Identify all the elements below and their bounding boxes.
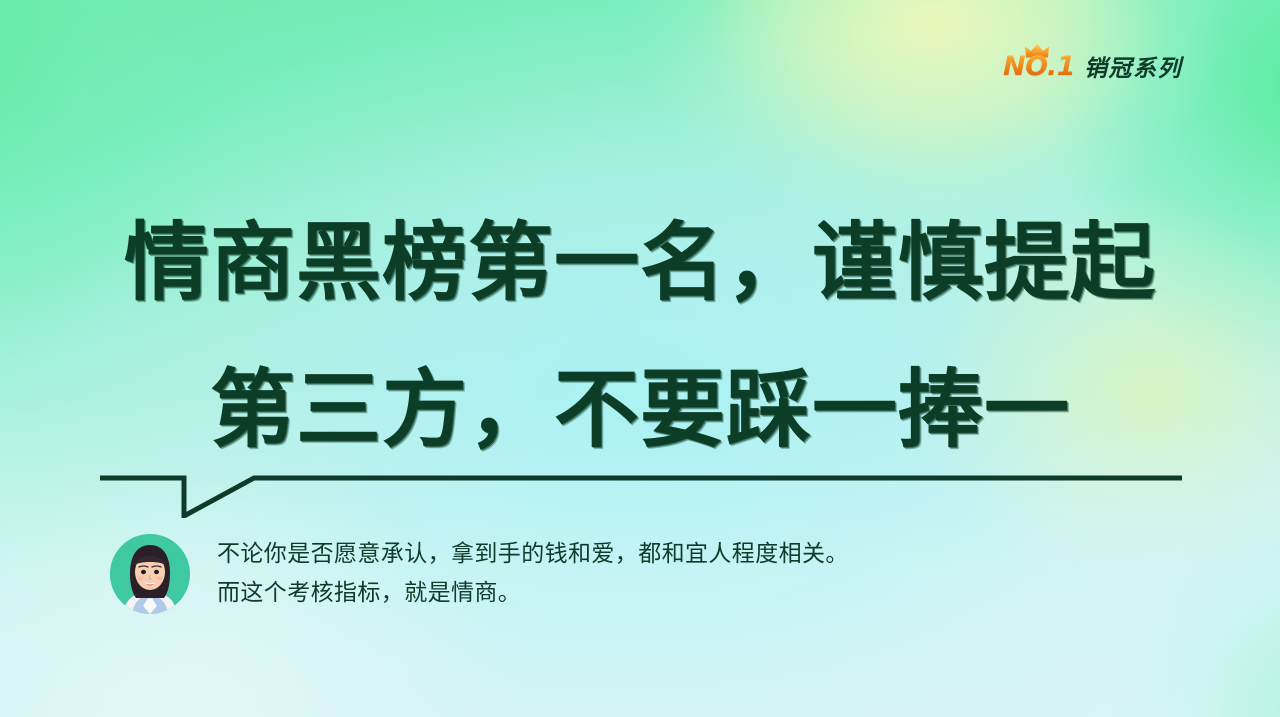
avatar-portrait-icon xyxy=(110,534,190,614)
caption-line-1: 不论你是否愿意承认，拿到手的钱和爱，都和宜人程度相关。 xyxy=(217,535,849,574)
no1-logo: NO.1 xyxy=(1003,46,1071,86)
series-label: 销冠系列 xyxy=(1084,49,1182,83)
divider-rule xyxy=(100,462,1182,518)
no1-label: NO.1 xyxy=(1003,53,1075,80)
caption-text: 不论你是否愿意承认，拿到手的钱和爱，都和宜人程度相关。 而这个考核指标，就是情商… xyxy=(217,535,849,612)
caption-line-2: 而这个考核指标，就是情商。 xyxy=(217,574,849,613)
avatar xyxy=(110,534,190,614)
brand-badge: NO.1 销冠系列 xyxy=(1003,44,1182,88)
poster-canvas: NO.1 销冠系列 情商黑榜第一名，谨慎提起 第三方，不要踩一捧一 xyxy=(0,0,1280,717)
caption-row: 不论你是否愿意承认，拿到手的钱和爱，都和宜人程度相关。 而这个考核指标，就是情商… xyxy=(110,534,849,614)
headline: 情商黑榜第一名，谨慎提起 第三方，不要踩一捧一 xyxy=(0,190,1280,484)
headline-line-1: 情商黑榜第一名，谨慎提起 xyxy=(0,190,1280,337)
